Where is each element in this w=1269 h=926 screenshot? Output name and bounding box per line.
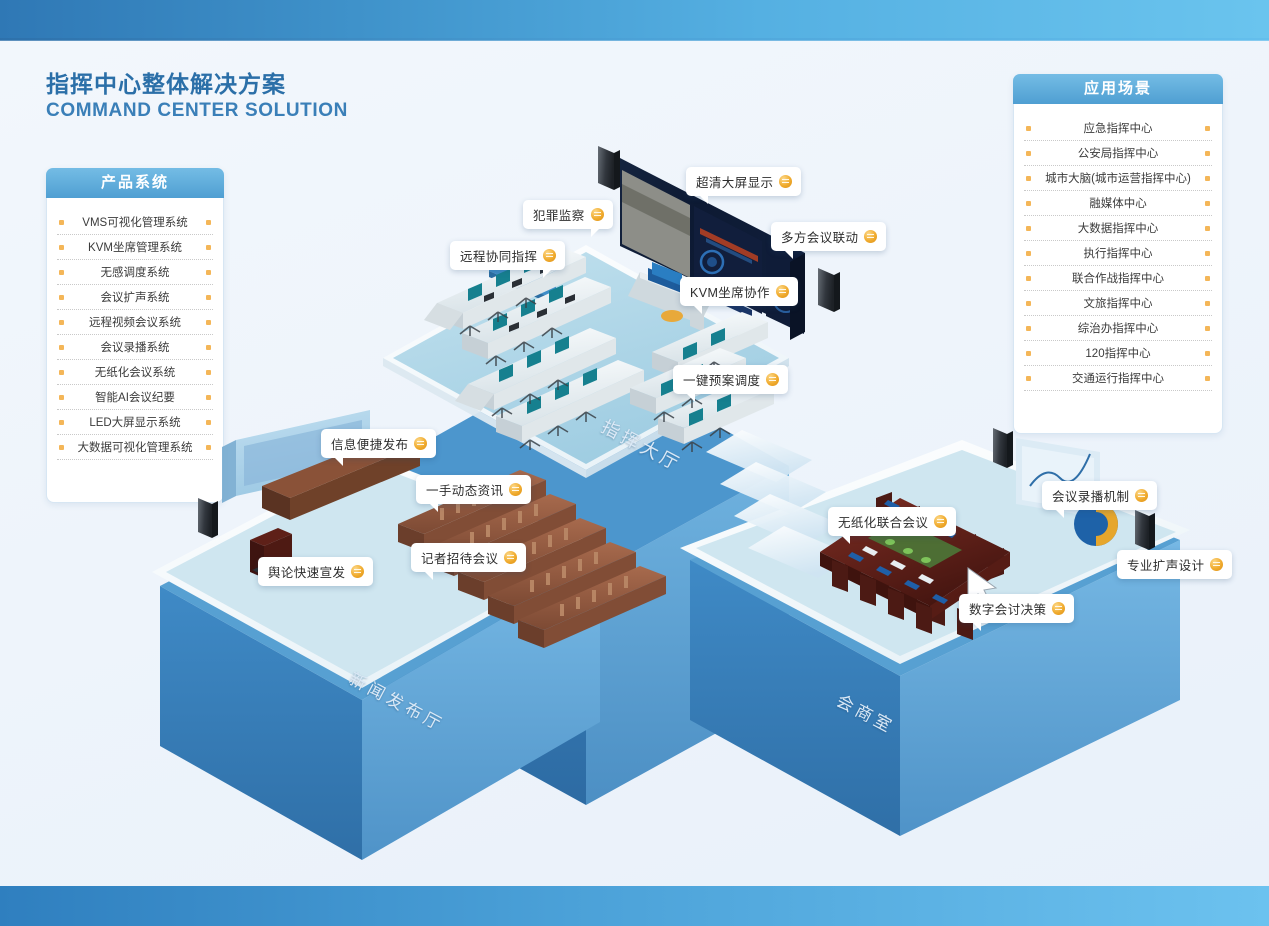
callout-label: 记者招待会议 [421,548,498,567]
info-badge-icon [779,175,792,188]
info-badge-icon [1135,489,1148,502]
callout-label: 超清大屏显示 [696,172,773,191]
info-badge-icon [509,483,522,496]
callout-digital-decision[interactable]: 数字会讨决策 [959,594,1074,623]
callout-label: 无纸化联合会议 [838,512,928,531]
callout-label: 多方会议联动 [781,227,858,246]
callout-easy-info-release[interactable]: 信息便捷发布 [321,429,436,458]
info-badge-icon [934,515,947,528]
infographic-canvas: 指挥大厅 新闻发布厅 会商室 超清大屏显示 犯罪监察 多方会议联动 远程协同指挥… [0,0,1269,926]
callout-press-conference[interactable]: 记者招待会议 [411,543,526,572]
callout-label: KVM坐席协作 [690,282,770,301]
callout-kvm-seat-collab[interactable]: KVM坐席协作 [680,277,798,306]
callout-first-hand-news[interactable]: 一手动态资讯 [416,475,531,504]
info-badge-icon [351,565,364,578]
callout-label: 专业扩声设计 [1127,555,1204,574]
callout-paperless-joint-meet[interactable]: 无纸化联合会议 [828,507,956,536]
callout-pro-sound-design[interactable]: 专业扩声设计 [1117,550,1232,579]
info-badge-icon [864,230,877,243]
info-badge-icon [591,208,604,221]
callout-remote-collab-command[interactable]: 远程协同指挥 [450,241,565,270]
callout-label: 一键预案调度 [683,370,760,389]
info-badge-icon [776,285,789,298]
isometric-scene [0,0,1269,926]
callout-public-opinion-release[interactable]: 舆论快速宣发 [258,557,373,586]
callout-label: 舆论快速宣发 [268,562,345,581]
callout-label: 会议录播机制 [1052,486,1129,505]
callout-meeting-recording[interactable]: 会议录播机制 [1042,481,1157,510]
info-badge-icon [543,249,556,262]
info-badge-icon [766,373,779,386]
info-badge-icon [1210,558,1223,571]
callout-label: 远程协同指挥 [460,246,537,265]
callout-label: 信息便捷发布 [331,434,408,453]
callout-label: 犯罪监察 [533,205,585,224]
callout-multi-party-meeting[interactable]: 多方会议联动 [771,222,886,251]
callout-crime-surveillance[interactable]: 犯罪监察 [523,200,613,229]
info-badge-icon [504,551,517,564]
callout-one-key-plan-dispatch[interactable]: 一键预案调度 [673,365,788,394]
callout-label: 一手动态资讯 [426,480,503,499]
callout-label: 数字会讨决策 [969,599,1046,618]
callout-ultra-hd-display[interactable]: 超清大屏显示 [686,167,801,196]
info-badge-icon [1052,602,1065,615]
info-badge-icon [414,437,427,450]
